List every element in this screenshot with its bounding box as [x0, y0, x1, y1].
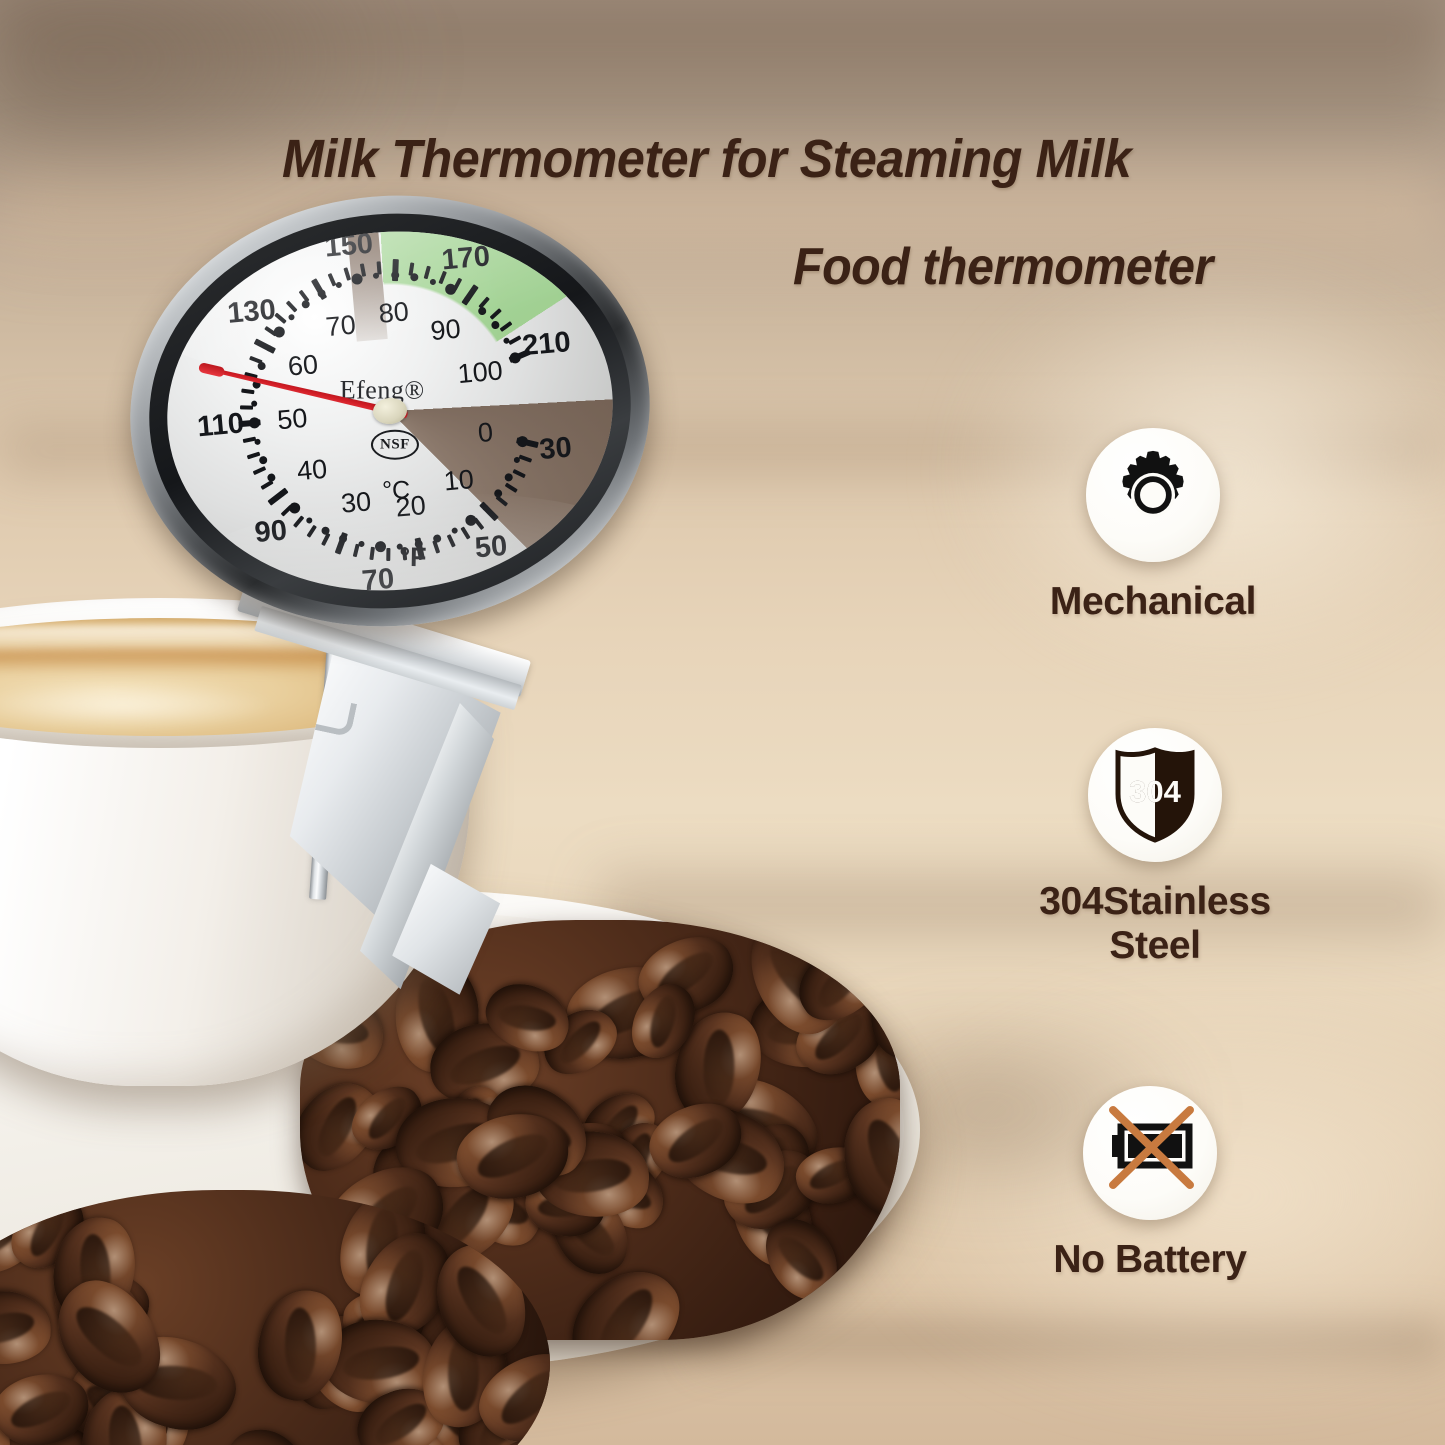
- feature-badge-circle: [1086, 428, 1220, 562]
- fahrenheit-unit-label: °F: [399, 542, 427, 573]
- feature-no-battery: No Battery: [985, 1086, 1315, 1282]
- celsius-tick-label: 100: [456, 355, 504, 390]
- feature-mechanical: Mechanical: [1008, 428, 1298, 624]
- coffee-bean: [837, 1092, 900, 1222]
- fahrenheit-tick-label: 210: [521, 326, 572, 363]
- celsius-tick-label: 0: [477, 417, 495, 449]
- no-battery-icon: [1094, 1097, 1206, 1209]
- dial-face: 30507090110130150170210 0102030405060708…: [153, 213, 628, 608]
- feature-badge-circle: [1083, 1086, 1217, 1220]
- celsius-tick-label: 90: [429, 314, 462, 348]
- fahrenheit-tick-label: 30: [538, 431, 573, 467]
- fahrenheit-tick-label: 130: [226, 294, 277, 331]
- fahrenheit-tick-label: 170: [440, 240, 491, 277]
- feature-label: 304Stainless Steel: [950, 880, 1360, 967]
- celsius-tick-label: 50: [276, 403, 309, 437]
- celsius-major-tick: [392, 259, 399, 281]
- coffee-bean: [0, 1290, 51, 1365]
- coffee-bean: [213, 1424, 319, 1445]
- celsius-tick-label: 70: [324, 310, 357, 344]
- svg-text:304: 304: [1129, 774, 1181, 809]
- nsf-certification-mark: NSF: [371, 430, 419, 460]
- celsius-tick-label: 40: [296, 454, 329, 488]
- celsius-unit-label: °C: [382, 476, 410, 505]
- feature-label: No Battery: [985, 1238, 1315, 1282]
- page-title-line-2: Food thermometer: [793, 237, 1213, 297]
- feature-stainless-steel: 304 304 304Stainless Steel: [950, 728, 1360, 967]
- feature-label: Mechanical: [1008, 580, 1298, 624]
- shield-304-icon: 304 304: [1112, 746, 1198, 844]
- celsius-tick-label: 10: [442, 464, 475, 498]
- fahrenheit-tick-label: 50: [474, 530, 509, 566]
- gear-icon: [1105, 447, 1201, 543]
- celsius-tick-label: 30: [340, 486, 373, 520]
- fahrenheit-tick-label: 110: [196, 407, 245, 444]
- celsius-tick-label: 60: [287, 349, 320, 383]
- thermometer-dial: 30507090110130150170210 0102030405060708…: [112, 174, 667, 648]
- feature-badge-circle: 304 304: [1088, 728, 1222, 862]
- celsius-tick-label: 80: [377, 296, 410, 330]
- fahrenheit-tick-label: 90: [253, 514, 288, 550]
- celsius-minor-tick: [386, 548, 390, 561]
- milk-thermometer: 30507090110130150170210 0102030405060708…: [0, 0, 700, 1010]
